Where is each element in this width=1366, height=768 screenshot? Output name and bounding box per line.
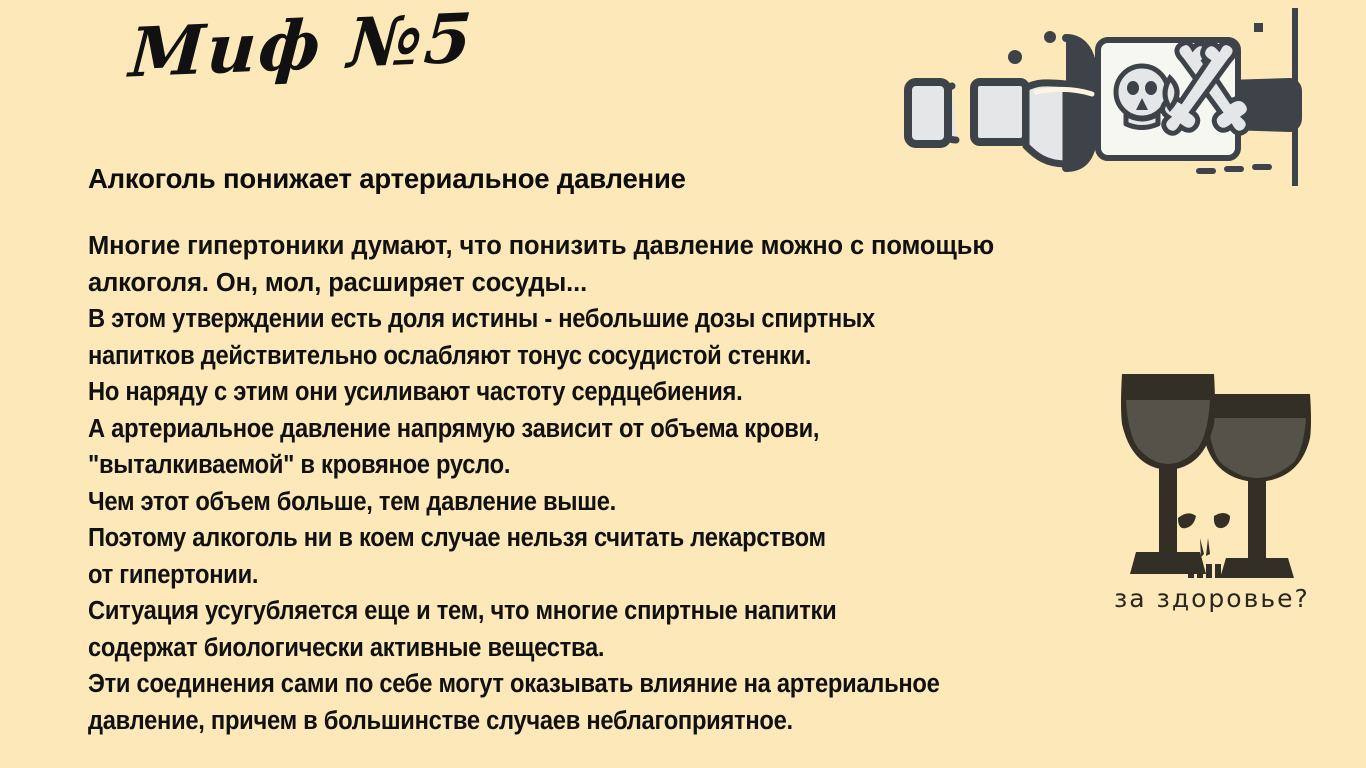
copy-line: от гипертонии. (88, 557, 1167, 594)
copy-line: А артериальное давление напрямую зависит… (88, 411, 1167, 448)
cork (908, 82, 948, 144)
copy-line: В этом утверждении есть доля истины - не… (88, 301, 1167, 338)
glass-base-left (1130, 552, 1206, 574)
skull-eye-left (1178, 513, 1196, 528)
copy-line: Многие гипертоники думают, что понизить … (88, 228, 1248, 265)
copy-line: Но наряду с этим они усиливают частоту с… (88, 374, 1167, 411)
bubble-small (1044, 31, 1056, 43)
copy-line: Ситуация усугубляется еще и тем, что мно… (88, 593, 1167, 630)
glass-stem-left (1159, 464, 1177, 552)
copy-line: содержат биологически активные вещества. (88, 630, 1167, 667)
copy-line: "выталкиваемой" в кровяное русло. (88, 447, 1167, 484)
myth-title: Миф №5 (127, 0, 476, 93)
bottle-neck (974, 82, 1026, 142)
copy-line: давление, причем в большинстве случаев н… (88, 703, 1167, 740)
poison-bottle-illustration (886, 0, 1306, 206)
bubble-large (1008, 50, 1022, 64)
body-copy: Многие гипертоники думают, что понизить … (88, 228, 1248, 739)
copy-line: Поэтому алкоголь ни в коем случае нельзя… (88, 520, 1167, 557)
skull-eye-right (1214, 513, 1230, 528)
copy-line: Эти соединения сами по себе могут оказыв… (88, 666, 1167, 703)
square-mark (1254, 23, 1263, 32)
skull-nose (1200, 538, 1210, 557)
copy-line: напитков действительно ослабляют тонус с… (88, 338, 1167, 375)
wine-glass-right (1203, 394, 1311, 578)
copy-line: алкоголя. Он, мол, расширяет сосуды... (88, 265, 1248, 302)
glass-base-right (1220, 558, 1294, 578)
page-title: Алкоголь понижает артериальное давление (88, 163, 686, 195)
bottle-base-dashes (1196, 164, 1272, 174)
bottle-neck-shoulder (1026, 83, 1066, 164)
glass-stem-right (1248, 478, 1266, 558)
slide-canvas: Миф №5 (0, 0, 1366, 768)
copy-line: Чем этот объем больше, тем давление выше… (88, 484, 1167, 521)
glasses-caption: за здоровье? (1114, 584, 1310, 613)
